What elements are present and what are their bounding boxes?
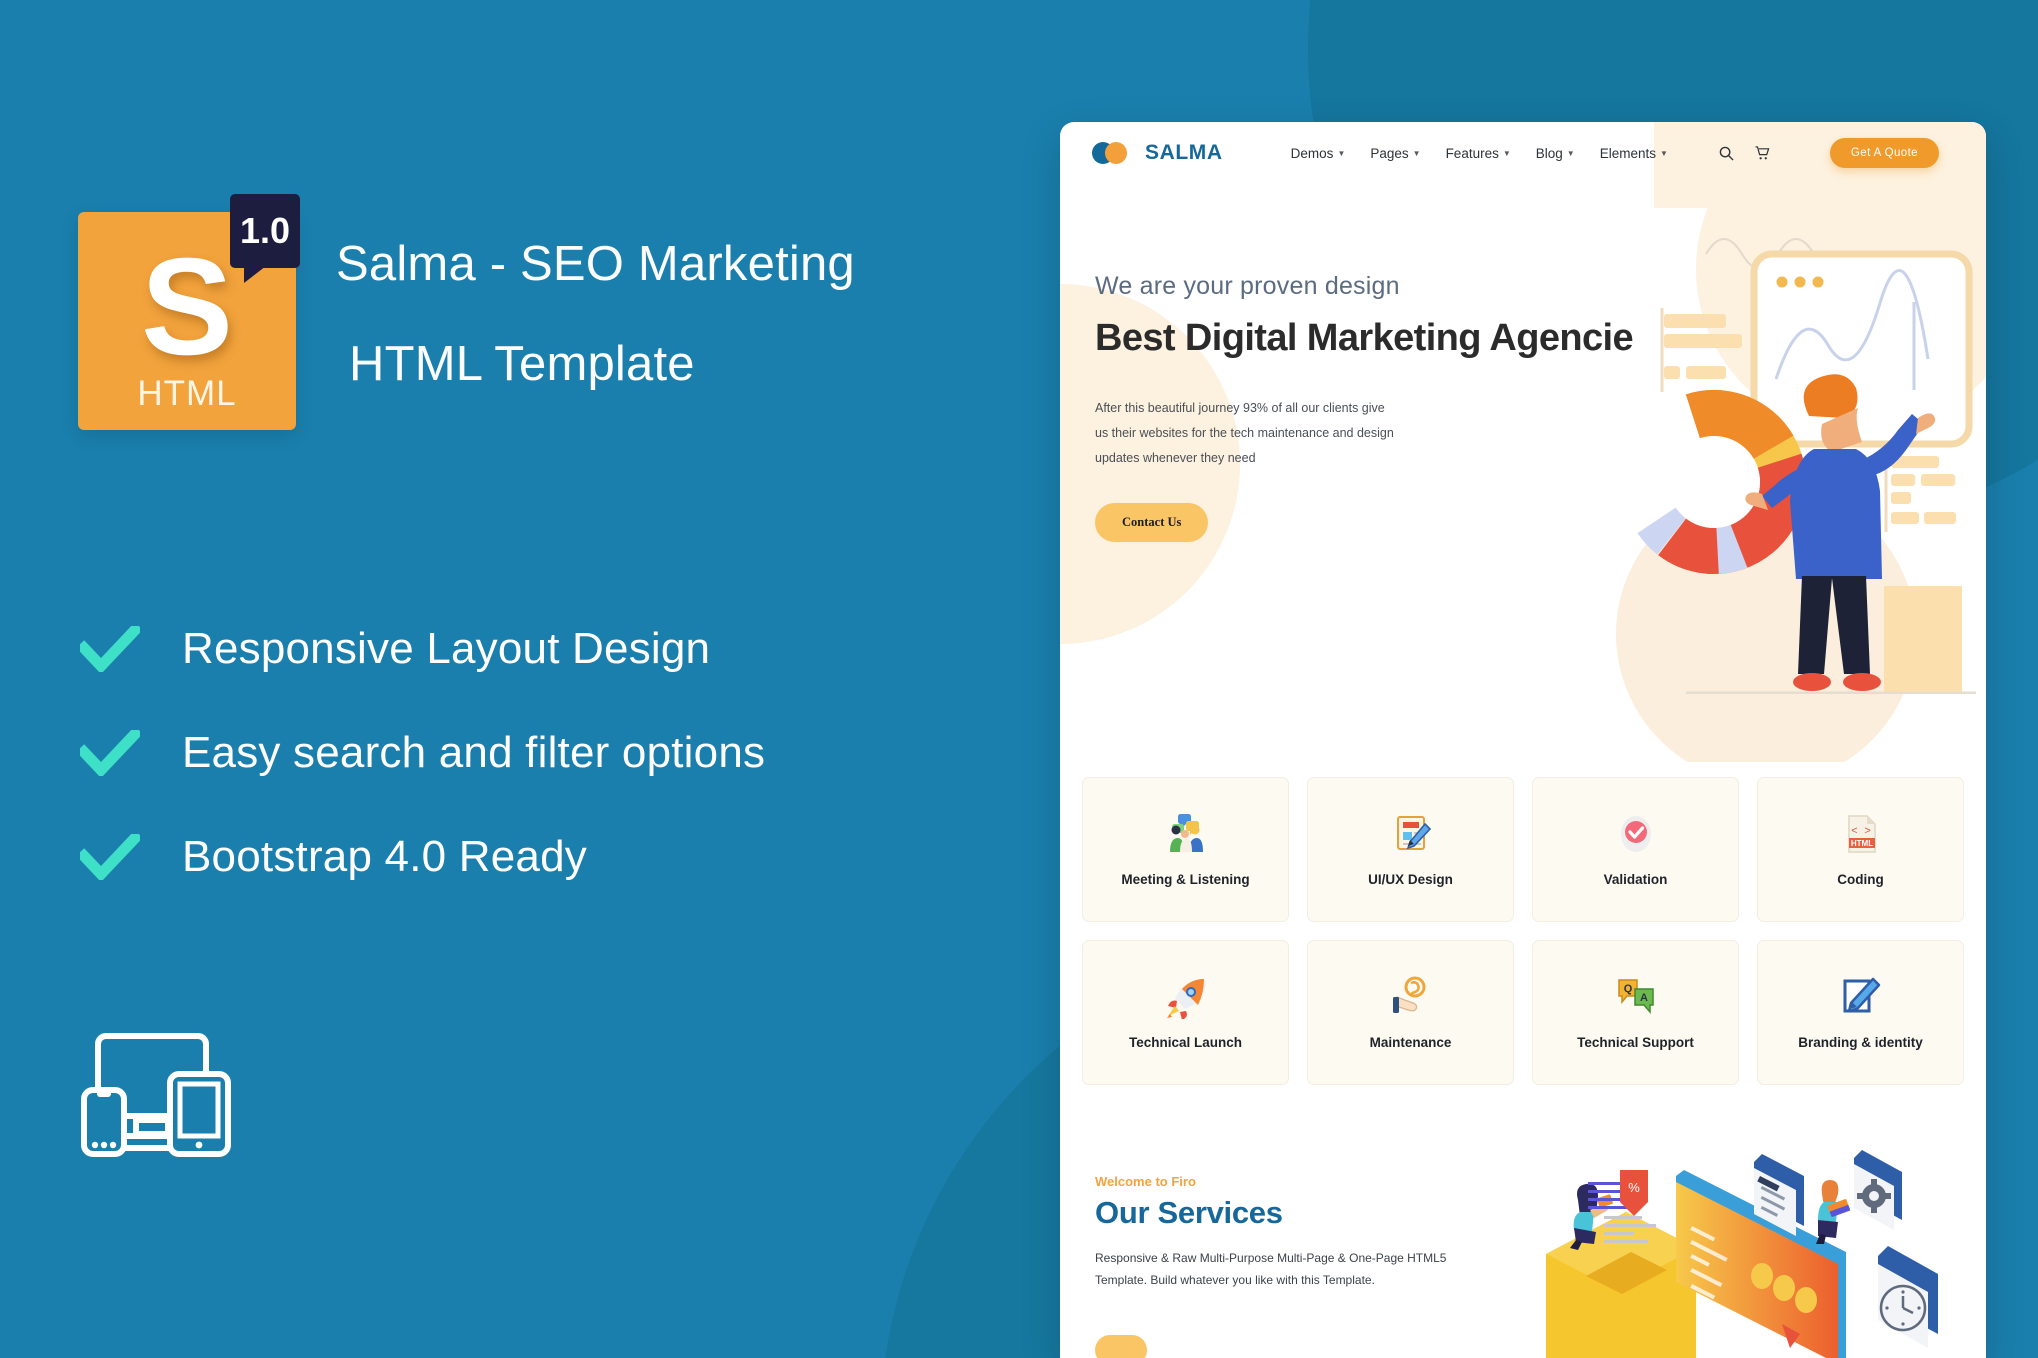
hero-description: After this beautiful journey 93% of all … [1095,396,1395,471]
services-illustration: % [1526,1134,1976,1358]
service-card-label: Maintenance [1370,1035,1452,1050]
check-icon [80,834,140,880]
hero-section: We are your proven design Best Digital M… [1060,184,1986,762]
hero-illustration [1566,194,1986,694]
promo-panel: S HTML 1.0 Salma - SEO Marketing HTML Te… [0,0,1060,1358]
chevron-down-icon: ▼ [1660,149,1668,158]
qa-chat-icon: Q A [1614,975,1658,1019]
services-cta-button[interactable] [1095,1335,1147,1358]
svg-text:%: % [1628,1180,1640,1195]
nav-item-label: Features [1446,146,1499,161]
brand-logo[interactable]: SALMA [1092,141,1223,165]
website-mockup: SALMA Demos ▼ Pages ▼ Features ▼ Blog ▼ … [1060,122,1986,1358]
feature-label: Bootstrap 4.0 Ready [182,832,587,882]
services-title: Our Services [1095,1195,1455,1231]
service-card-meeting-listening[interactable]: Meeting & Listening [1082,777,1289,922]
cart-icon[interactable] [1754,144,1772,162]
service-card-coding[interactable]: < > HTML Coding [1757,777,1964,922]
feature-item: Bootstrap 4.0 Ready [80,818,765,896]
promo-title-line-1: Salma - SEO Marketing [336,240,1036,289]
version-badge: 1.0 [230,194,300,268]
nav-tools: Get A Quote [1718,138,1939,168]
design-pencil-icon [1389,812,1433,856]
hero-title: Best Digital Marketing Agencie [1095,317,1565,360]
pen-square-icon [1839,975,1883,1019]
nav-links: Demos ▼ Pages ▼ Features ▼ Blog ▼ Elemen… [1291,146,1668,161]
people-meeting-icon [1164,812,1208,856]
service-card-label: Meeting & Listening [1121,872,1249,887]
search-icon[interactable] [1718,144,1736,162]
service-card-row: Meeting & Listening UI/UX Design [1082,777,1964,922]
check-badge-icon [1614,812,1658,856]
get-a-quote-button[interactable]: Get A Quote [1830,138,1939,168]
contact-us-button[interactable]: Contact Us [1095,503,1208,542]
hand-wrench-icon [1389,975,1433,1019]
promo-title-line-2: HTML Template [349,340,1036,389]
chevron-down-icon: ▼ [1413,149,1421,158]
responsive-devices-icon [70,1028,250,1158]
feature-item: Easy search and filter options [80,714,765,792]
svg-text:< >: < > [1851,826,1871,838]
feature-item: Responsive Layout Design [80,610,765,688]
product-logo: S HTML 1.0 [78,212,296,430]
hero-text: We are your proven design Best Digital M… [1095,272,1565,542]
brand-name: SALMA [1145,141,1223,165]
nav-item-demos[interactable]: Demos ▼ [1291,146,1346,161]
check-icon [80,626,140,672]
service-card-technical-launch[interactable]: Technical Launch [1082,940,1289,1085]
service-card-label: Technical Launch [1129,1035,1242,1050]
service-card-label: Coding [1837,872,1884,887]
nav-item-label: Elements [1600,146,1656,161]
service-card-technical-support[interactable]: Q A Technical Support [1532,940,1739,1085]
feature-label: Easy search and filter options [182,728,765,778]
nav-item-features[interactable]: Features ▼ [1446,146,1511,161]
our-services-section: Welcome to Firo Our Services Responsive … [1060,1122,1986,1358]
rocket-icon [1164,975,1208,1019]
svg-text:HTML: HTML [1850,839,1872,848]
feature-list: Responsive Layout Design Easy search and… [80,610,765,922]
nav-item-label: Pages [1370,146,1408,161]
service-card-ui-ux-design[interactable]: UI/UX Design [1307,777,1514,922]
service-card-branding-identity[interactable]: Branding & identity [1757,940,1964,1085]
chevron-down-icon: ▼ [1503,149,1511,158]
nav-item-blog[interactable]: Blog ▼ [1536,146,1575,161]
services-description: Responsive & Raw Multi-Purpose Multi-Pag… [1095,1247,1455,1291]
mockup-navbar: SALMA Demos ▼ Pages ▼ Features ▼ Blog ▼ … [1060,122,1986,184]
services-eyebrow: Welcome to Firo [1095,1174,1455,1189]
service-card-validation[interactable]: Validation [1532,777,1739,922]
logo-sublabel: HTML [78,374,296,414]
service-card-label: Technical Support [1577,1035,1694,1050]
our-services-text: Welcome to Firo Our Services Responsive … [1095,1174,1455,1291]
chevron-down-icon: ▼ [1337,149,1345,158]
service-card-label: UI/UX Design [1368,872,1453,887]
service-card-grid: Meeting & Listening UI/UX Design [1060,777,1986,1103]
service-card-row: Technical Launch Maintenance [1082,940,1964,1085]
feature-label: Responsive Layout Design [182,624,710,674]
check-icon [80,730,140,776]
service-card-label: Branding & identity [1798,1035,1923,1050]
svg-text:A: A [1640,992,1648,1004]
promo-title: Salma - SEO Marketing HTML Template [336,240,1036,389]
nav-item-elements[interactable]: Elements ▼ [1600,146,1668,161]
nav-item-label: Demos [1291,146,1334,161]
service-card-maintenance[interactable]: Maintenance [1307,940,1514,1085]
html-file-icon: < > HTML [1839,812,1883,856]
nav-item-label: Blog [1536,146,1563,161]
svg-text:Q: Q [1623,983,1632,995]
hero-eyebrow: We are your proven design [1095,272,1565,301]
chevron-down-icon: ▼ [1567,149,1575,158]
version-badge-label: 1.0 [240,210,290,252]
brand-circles-icon [1092,142,1136,164]
service-card-label: Validation [1604,872,1668,887]
nav-item-pages[interactable]: Pages ▼ [1370,146,1420,161]
